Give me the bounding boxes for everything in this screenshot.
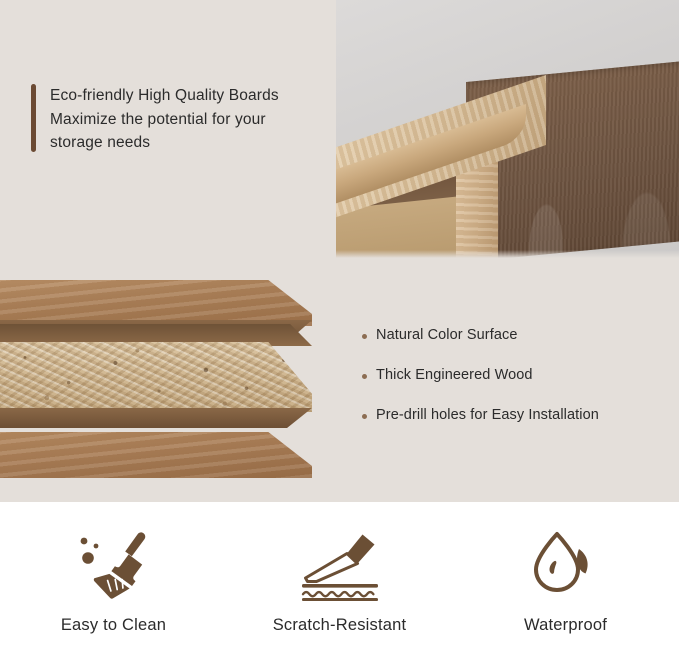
headline-text: Eco-friendly High Quality Boards Maximiz…	[50, 84, 279, 155]
board-bottom-face	[0, 432, 312, 478]
bottom-section: Easy to Clean Scratch-Resi	[0, 502, 679, 647]
feature-easy-to-clean: Easy to Clean	[30, 528, 198, 635]
top-section: Eco-friendly High Quality Boards Maximiz…	[0, 0, 679, 258]
feature-label: Waterproof	[524, 616, 607, 635]
middle-section: Natural Color Surface Thick Engineered W…	[0, 258, 679, 502]
product-feature-infographic: Eco-friendly High Quality Boards Maximiz…	[0, 0, 679, 647]
accent-bar	[31, 84, 36, 152]
board-particleboard-core	[0, 342, 312, 412]
bullet-dot-icon	[362, 414, 367, 419]
feature-bullet-list: Natural Color Surface Thick Engineered W…	[362, 326, 662, 446]
wood-cabinet-corner-photo	[336, 0, 679, 258]
list-item: Pre-drill holes for Easy Installation	[362, 406, 662, 425]
feature-icon-row: Easy to Clean Scratch-Resi	[0, 502, 679, 647]
list-item: Thick Engineered Wood	[362, 366, 662, 385]
bullet-label: Pre-drill holes for Easy Installation	[376, 406, 599, 425]
bullet-dot-icon	[362, 334, 367, 339]
board-bottom-veneer	[0, 432, 312, 478]
bullet-label: Natural Color Surface	[376, 326, 518, 345]
board-top-veneer	[0, 280, 312, 326]
engineered-board-cross-section-photo	[0, 280, 322, 480]
knife-on-surface-icon	[294, 528, 386, 602]
board-top-face	[0, 280, 312, 326]
bullet-label: Thick Engineered Wood	[376, 366, 533, 385]
broom-icon	[71, 528, 157, 602]
feature-label: Easy to Clean	[61, 616, 166, 635]
feature-label: Scratch-Resistant	[273, 616, 407, 635]
list-item: Natural Color Surface	[362, 326, 662, 345]
bullet-dot-icon	[362, 374, 367, 379]
water-droplet-icon	[527, 528, 605, 602]
board-core-underside	[0, 408, 312, 428]
feature-waterproof: Waterproof	[482, 528, 650, 635]
photo-bottom-fade	[336, 250, 679, 258]
headline-block: Eco-friendly High Quality Boards Maximiz…	[31, 84, 321, 155]
board-core-face	[0, 342, 312, 412]
feature-scratch-resistant: Scratch-Resistant	[256, 528, 424, 635]
